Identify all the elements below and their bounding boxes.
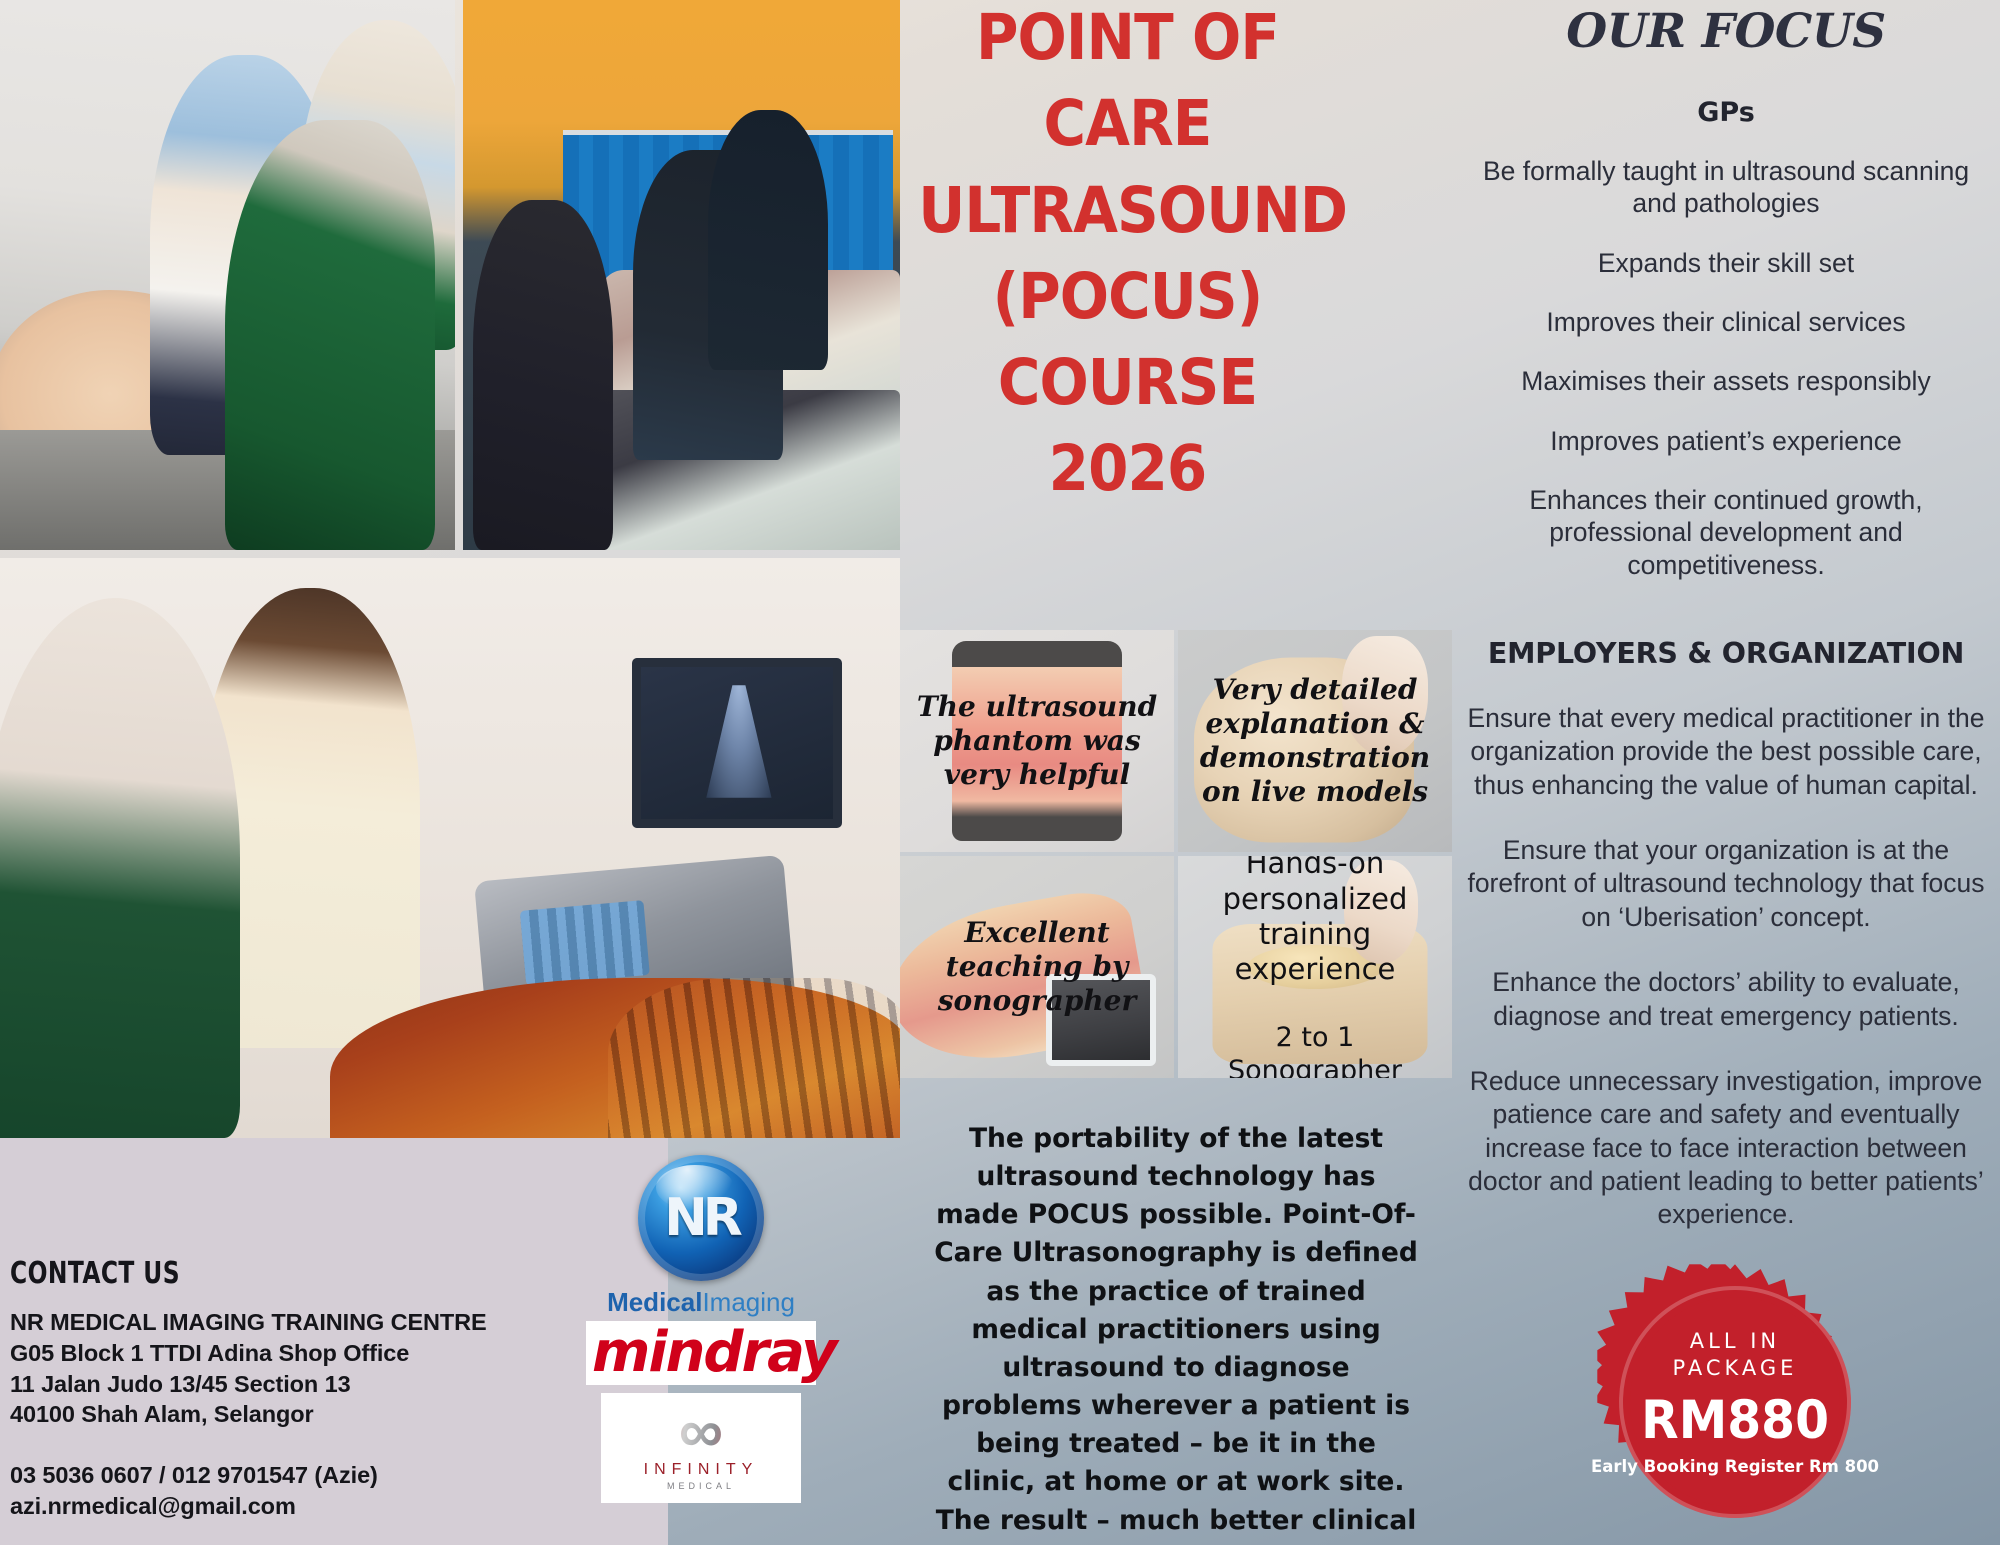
our-focus-heading: OUR FOCUS <box>1466 4 1986 59</box>
mindray-logo: mindray <box>586 1321 816 1385</box>
nr-medical-logo-icon: NR <box>638 1155 764 1281</box>
testimonial-text-1: The ultrasound phantom was very helpful <box>908 690 1166 792</box>
contact-address-3: 40100 Shah Alam, Selangor <box>10 1399 668 1430</box>
title-line-4: (POCUS) <box>918 265 1337 329</box>
photo-figure-masked-instructor <box>300 20 455 350</box>
photo-trainer-hijab <box>0 598 240 1138</box>
pocus-definition-paragraph: The portability of the latest ultrasound… <box>900 1100 1452 1545</box>
nr-word-medical: Medical <box>607 1287 702 1317</box>
nr-monogram: NR <box>638 1155 764 1281</box>
seal-label-line-2: PACKAGE <box>1673 1356 1798 1380</box>
photo-participant-left <box>473 200 613 550</box>
testimonial-text-3: Excellent teaching by sonographer <box>908 916 1166 1018</box>
contact-address-2: 11 Jalan Judo 13/45 Section 13 <box>10 1369 668 1400</box>
gps-item-6: Enhances their continued growth, profess… <box>1466 484 1986 581</box>
photo-ward-training-session <box>463 0 900 550</box>
testimonial-text-4-sub: 2 to 1 Sonographer <box>1186 1022 1444 1078</box>
price-seal-badge[interactable]: ALL IN PACKAGE RM880 Early Booking Regis… <box>1600 1267 1870 1537</box>
testimonial-card-live-models: Very detailed explanation & demonstratio… <box>1178 630 1452 852</box>
employers-heading: EMPLOYERS & ORGANIZATION <box>1466 637 1986 670</box>
title-line-3: ULTRASOUND <box>918 179 1337 243</box>
testimonial-card-teaching: Excellent teaching by sonographer <box>900 856 1174 1078</box>
seal-package-label: ALL IN PACKAGE <box>1673 1328 1798 1383</box>
ultrasound-monitor <box>632 658 842 828</box>
mindray-wordmark: mindray <box>592 1320 836 1385</box>
gps-item-4: Maximises their assets responsibly <box>1466 365 1986 397</box>
seal-label-line-1: ALL IN <box>1690 1329 1780 1353</box>
gps-item-1: Be formally taught in ultrasound scannin… <box>1466 155 1986 220</box>
seal-price-amount: RM880 <box>1641 1394 1829 1447</box>
contact-phone[interactable]: 03 5036 0607 / 012 9701547 (Azie) <box>10 1460 668 1491</box>
photo-ultrasound-machine-scanning <box>0 558 900 1138</box>
contact-heading: CONTACT US <box>10 1256 523 1291</box>
nr-medical-imaging-wordmark: MedicalImaging <box>586 1287 816 1318</box>
poster-root: CONTACT US NR MEDICAL IMAGING TRAINING C… <box>0 0 2000 1545</box>
nr-word-imaging: Imaging <box>702 1287 795 1317</box>
employers-item-3: Enhance the doctors’ ability to evaluate… <box>1466 966 1986 1033</box>
testimonial-text-4: Hands-on personalized training experienc… <box>1186 856 1444 1078</box>
contact-email[interactable]: azi.nrmedical@gmail.com <box>10 1491 668 1522</box>
seal-inner-disc: ALL IN PACKAGE RM880 Early Booking Regis… <box>1630 1297 1841 1508</box>
gps-item-2: Expands their skill set <box>1466 247 1986 279</box>
infinity-medical-logo: ∞ INFINITY MEDICAL <box>601 1393 801 1503</box>
contact-org-name: NR MEDICAL IMAGING TRAINING CENTRE <box>10 1307 668 1338</box>
gps-subheading: GPs <box>1466 97 1986 128</box>
photo-training-phantom-demo <box>0 0 455 550</box>
testimonial-text-2: Very detailed explanation & demonstratio… <box>1186 673 1444 810</box>
infinity-symbol-icon: ∞ <box>601 1407 801 1457</box>
testimonial-grid: The ultrasound phantom was very helpful … <box>900 630 1452 1078</box>
employers-item-4: Reduce unnecessary investigation, improv… <box>1466 1065 1986 1232</box>
seal-early-booking-note: Early Booking Register Rm 800 <box>1591 1457 1879 1476</box>
infinity-wordmark: INFINITY <box>601 1461 801 1479</box>
gps-item-5: Improves patient’s experience <box>1466 425 1986 457</box>
contact-address-1: G05 Block 1 TTDI Adina Shop Office <box>10 1338 668 1369</box>
sponsor-logo-stack: NR MedicalImaging mindray ∞ INFINITY MED… <box>586 1155 816 1503</box>
photo-floor <box>0 430 455 550</box>
title-line-2: CARE <box>918 92 1337 156</box>
contact-spacer <box>10 1430 668 1460</box>
title-line-1: POINT OF <box>918 6 1337 70</box>
title-line-6: 2026 <box>918 437 1337 501</box>
infinity-subtitle: MEDICAL <box>601 1481 801 1491</box>
testimonial-card-hands-on: Hands-on personalized training experienc… <box>1178 856 1452 1078</box>
contact-panel: CONTACT US NR MEDICAL IMAGING TRAINING C… <box>0 1138 668 1545</box>
testimonial-card-phantom: The ultrasound phantom was very helpful <box>900 630 1174 852</box>
employers-item-2: Ensure that your organization is at the … <box>1466 834 1986 934</box>
gps-item-3: Improves their clinical services <box>1466 306 1986 338</box>
poster-title: POINT OF CARE ULTRASOUND (POCUS) COURSE … <box>900 6 1355 524</box>
employers-item-1: Ensure that every medical practitioner i… <box>1466 702 1986 802</box>
testimonial-text-4-main: Hands-on personalized training experienc… <box>1223 856 1408 986</box>
title-line-5: COURSE <box>918 351 1337 415</box>
photo-participant-back <box>708 110 828 370</box>
